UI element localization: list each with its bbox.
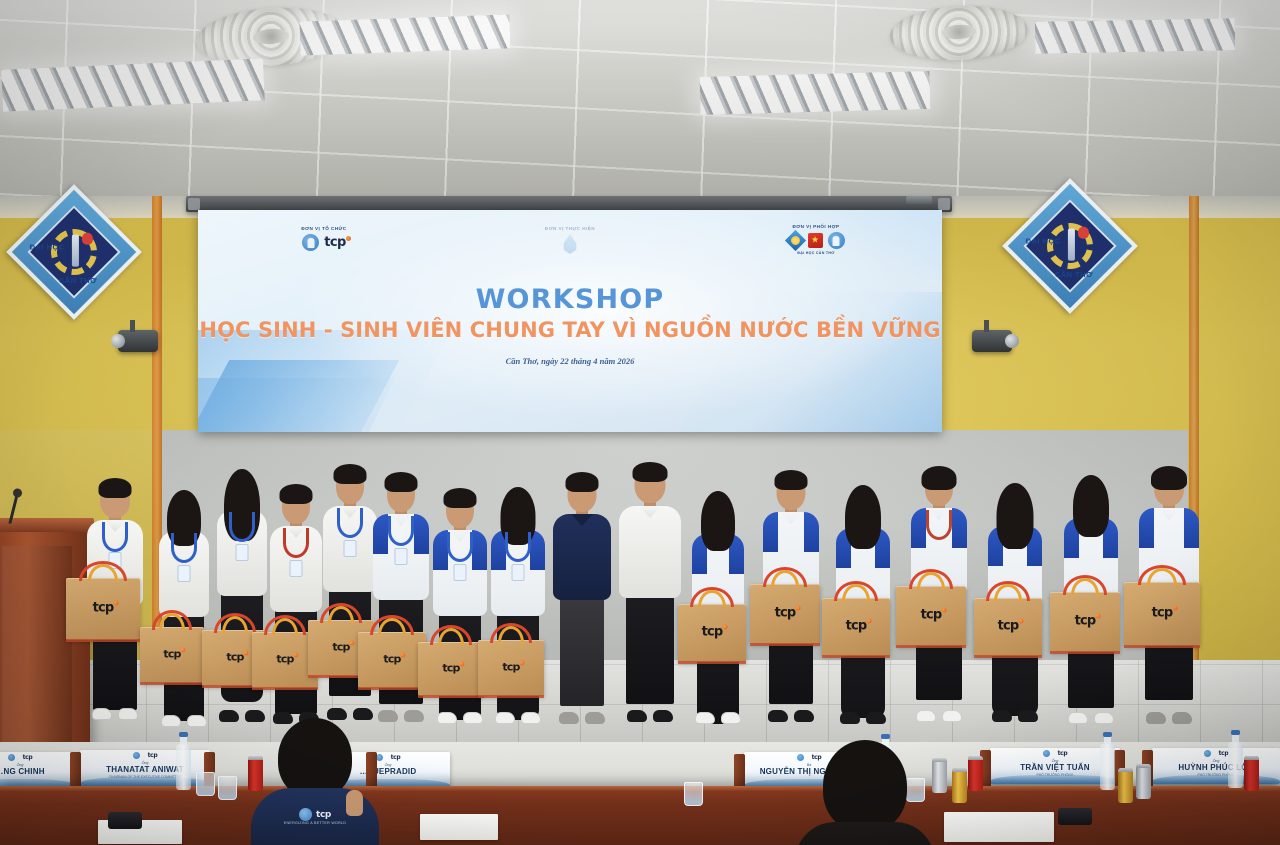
hand-circle-logo-icon bbox=[1043, 750, 1050, 757]
shoes bbox=[437, 712, 483, 724]
ceiling bbox=[0, 0, 1280, 210]
placard-wave bbox=[1152, 775, 1280, 784]
torch-icon bbox=[72, 235, 79, 267]
placard-name: …NG CHINH bbox=[0, 767, 76, 776]
hair bbox=[334, 464, 367, 484]
name-placard: tcp Ông HUỲNH PHÚC LỘC PHÓ TRƯỞNG PHÒNG bbox=[1152, 748, 1280, 784]
podium bbox=[0, 528, 90, 758]
name-placard: tcp Ông …NG CHINH bbox=[0, 752, 76, 788]
person-standing: tcp bbox=[368, 468, 434, 760]
logo-caption: ĐƠN VỊ PHỐI HỢP bbox=[746, 224, 886, 229]
tcp-logo: tcp bbox=[23, 754, 33, 761]
hand-circle-logo-icon bbox=[302, 234, 319, 251]
hair bbox=[775, 470, 808, 490]
legs bbox=[626, 594, 674, 704]
person-standing: tcp bbox=[906, 464, 972, 760]
mobile-phone bbox=[1058, 808, 1092, 825]
tcp-logo: tcp bbox=[324, 236, 345, 249]
person-standing: tcp bbox=[428, 472, 492, 760]
emblem-text-right: CẦN THƠ bbox=[1055, 270, 1093, 279]
gift-bag: tcp bbox=[1050, 592, 1120, 652]
tcp-bag-logo: tcp bbox=[226, 651, 243, 662]
shoes bbox=[695, 712, 741, 724]
logo-row: tcp bbox=[264, 234, 384, 251]
photo-scene: ĐẠI HỌC CẦN THƠ ĐẠI HỌC CẦN THƠ ĐƠN VỊ T… bbox=[0, 0, 1280, 845]
partner-diamond-logo-icon bbox=[784, 230, 805, 251]
torch-icon bbox=[1068, 229, 1075, 261]
flame-icon bbox=[82, 232, 93, 244]
person-standing: tcp bbox=[830, 472, 896, 760]
id-badge bbox=[512, 564, 525, 581]
energy-drink-can bbox=[952, 768, 967, 803]
tcp-bag-logo: tcp bbox=[332, 641, 349, 652]
person-staff-navy bbox=[548, 468, 616, 760]
head bbox=[823, 740, 907, 832]
screen-date-line: Cần Thơ, ngày 22 tháng 4 năm 2026 bbox=[198, 356, 942, 366]
shoes bbox=[916, 710, 962, 722]
projector-mount bbox=[906, 196, 932, 204]
tcp-bag-logo: tcp bbox=[502, 661, 519, 672]
hair bbox=[845, 485, 881, 549]
lanyard bbox=[926, 510, 952, 540]
logo-caption: ĐƠN VỊ THỰC HIỆN bbox=[500, 226, 640, 231]
document-paper bbox=[944, 812, 1054, 842]
id-badge bbox=[395, 548, 408, 565]
id-badge bbox=[454, 564, 467, 581]
id-badge bbox=[344, 540, 357, 557]
gift-bag: tcp bbox=[750, 584, 820, 644]
hand-circle-logo-icon bbox=[1204, 750, 1211, 757]
hair bbox=[922, 466, 957, 490]
hair bbox=[1073, 475, 1109, 537]
id-badge bbox=[236, 544, 249, 561]
lanyard bbox=[283, 528, 309, 558]
podium-panel bbox=[2, 546, 72, 748]
energy-drink-can bbox=[1118, 768, 1133, 803]
gift-bag: tcp bbox=[678, 604, 746, 662]
hand-circle-logo-icon bbox=[828, 232, 845, 249]
tcp-bag-logo: tcp bbox=[846, 619, 867, 632]
screen-decoration bbox=[198, 378, 394, 432]
placard-name: HUỲNH PHÚC LỘC bbox=[1152, 763, 1280, 772]
tcp-bag-logo: tcp bbox=[998, 619, 1019, 632]
gift-bag: tcp bbox=[1124, 582, 1200, 646]
hair bbox=[633, 462, 668, 482]
person-seated-foreground: tcp ENERGIZING A BETTER WORLD bbox=[240, 718, 390, 845]
gift-bag: tcp bbox=[66, 578, 140, 640]
person-standing: tcp bbox=[1058, 468, 1124, 760]
gift-bag: tcp bbox=[896, 586, 966, 646]
person-standing: tcp bbox=[758, 466, 824, 760]
tcp-dot-icon bbox=[346, 236, 351, 241]
tcp-logo: tcp bbox=[1058, 750, 1068, 757]
hair bbox=[444, 488, 477, 508]
projection-screen: ĐƠN VỊ TỔ CHỨC tcp ĐƠN VỊ THỰC HIỆN ĐƠN … bbox=[198, 210, 942, 432]
screen-logo-group-organiser: ĐƠN VỊ TỔ CHỨC tcp bbox=[264, 226, 384, 251]
collar bbox=[780, 512, 802, 524]
tcp-logo: tcp bbox=[148, 752, 158, 759]
torso-polo bbox=[553, 514, 611, 600]
person-standing: tcp bbox=[1134, 464, 1204, 760]
tcp-logo-subtext: ENERGIZING A BETTER WORLD bbox=[284, 821, 346, 825]
hair bbox=[280, 484, 313, 504]
legs bbox=[560, 596, 604, 706]
shoes bbox=[840, 712, 886, 724]
document-paper bbox=[420, 814, 498, 840]
tcp-bag-logo: tcp bbox=[1075, 614, 1096, 627]
lanyard bbox=[447, 532, 473, 562]
id-badge bbox=[290, 560, 303, 577]
collar bbox=[1158, 508, 1180, 520]
person-staff-white bbox=[614, 462, 686, 760]
raised-hand bbox=[346, 790, 363, 816]
wall-speaker-camera-left bbox=[118, 330, 158, 352]
shoes bbox=[495, 712, 541, 724]
placard-logos: tcp bbox=[0, 754, 76, 761]
collar bbox=[571, 514, 593, 526]
person-standing: tcp bbox=[686, 474, 750, 760]
tcp-shirt-logo: tcp ENERGIZING A BETTER WORLD bbox=[299, 808, 331, 821]
tcp-bag-logo: tcp bbox=[93, 601, 114, 614]
hair bbox=[701, 491, 735, 551]
screen-title: WORKSHOP bbox=[198, 284, 942, 315]
lanyard bbox=[229, 512, 255, 542]
tcp-bag-logo: tcp bbox=[163, 648, 180, 659]
energy-drink-can bbox=[968, 756, 983, 791]
gift-bag: tcp bbox=[974, 598, 1042, 656]
torso-shirt bbox=[619, 506, 681, 598]
tcp-bag-logo: tcp bbox=[702, 625, 723, 638]
youth-union-flag-icon bbox=[808, 233, 823, 248]
shoes bbox=[161, 715, 207, 727]
gift-bag: tcp bbox=[478, 640, 544, 696]
hair bbox=[997, 483, 1034, 549]
gift-bag: tcp bbox=[358, 632, 426, 688]
hair bbox=[385, 472, 418, 492]
tcp-bag-logo: tcp bbox=[383, 653, 400, 664]
emblem-text-left: ĐẠI HỌC bbox=[30, 243, 65, 252]
screen-subtitle: HỌC SINH - SINH VIÊN CHUNG TAY VÌ NGUỒN … bbox=[198, 318, 942, 342]
person-standing: tcp bbox=[80, 470, 150, 760]
torso bbox=[795, 822, 935, 845]
lanyard bbox=[102, 522, 128, 552]
hair bbox=[566, 472, 599, 492]
shoes bbox=[992, 710, 1038, 722]
screen-logo-group-partners: ĐƠN VỊ PHỐI HỢP ĐẠI HỌC CẦN THƠ bbox=[746, 224, 886, 255]
person-seated-foreground bbox=[790, 740, 940, 845]
water-bottle bbox=[176, 744, 191, 790]
shoes bbox=[1068, 712, 1114, 724]
shoes bbox=[627, 710, 673, 722]
lanyard bbox=[171, 533, 197, 563]
hand-circle-logo-icon bbox=[299, 808, 312, 821]
flame-icon bbox=[1078, 226, 1089, 238]
gift-bag: tcp bbox=[140, 627, 204, 683]
logo-row bbox=[746, 232, 886, 249]
hair bbox=[99, 478, 132, 498]
tcp-bag-logo: tcp bbox=[1152, 606, 1173, 619]
wall-speaker-camera-right bbox=[972, 330, 1012, 352]
id-badge bbox=[178, 565, 191, 582]
placard-logos: tcp bbox=[1152, 750, 1280, 757]
person-standing: tcp bbox=[152, 475, 216, 760]
person-standing: tcp bbox=[486, 474, 550, 760]
lanyard bbox=[388, 516, 414, 546]
emblem-text-right: CẦN THƠ bbox=[59, 276, 97, 285]
shoes bbox=[768, 710, 814, 722]
hair bbox=[1151, 466, 1187, 490]
lanyard bbox=[505, 532, 531, 562]
lanyard bbox=[337, 508, 363, 538]
water-drop-logo-icon bbox=[561, 234, 579, 254]
tcp-bag-logo: tcp bbox=[442, 662, 459, 673]
ceiling-shading bbox=[0, 0, 1280, 210]
shoes bbox=[92, 708, 138, 720]
mobile-phone bbox=[108, 812, 142, 829]
gift-bag: tcp bbox=[822, 598, 890, 656]
water-glass bbox=[218, 776, 237, 800]
logo-subcaption: ĐẠI HỌC CẦN THƠ bbox=[746, 251, 886, 255]
hand-circle-logo-icon bbox=[133, 752, 140, 759]
tcp-logo: tcp bbox=[391, 754, 401, 761]
energy-drink-can bbox=[1244, 756, 1259, 791]
tcp-bag-logo: tcp bbox=[276, 653, 293, 664]
shoes bbox=[1146, 712, 1192, 724]
energy-drink-can bbox=[1136, 764, 1151, 799]
emblem-text-left: ĐẠI HỌC bbox=[1026, 237, 1061, 246]
tcp-bag-logo: tcp bbox=[775, 606, 796, 619]
person-standing: tcp bbox=[982, 470, 1048, 760]
screen-logo-group-implementer: ĐƠN VỊ THỰC HIỆN bbox=[500, 226, 640, 254]
gift-bag: tcp bbox=[418, 642, 484, 696]
shoes bbox=[559, 712, 605, 724]
hand-circle-logo-icon bbox=[8, 754, 15, 761]
water-glass bbox=[684, 782, 703, 806]
logo-caption: ĐƠN VỊ TỔ CHỨC bbox=[264, 226, 384, 231]
water-bottle bbox=[1100, 744, 1115, 790]
tcp-logo: tcp bbox=[1219, 750, 1229, 757]
tcp-bag-logo: tcp bbox=[921, 608, 942, 621]
collar bbox=[639, 506, 661, 518]
tcp-logo-text: tcp bbox=[316, 810, 331, 820]
water-bottle bbox=[1228, 742, 1243, 788]
head bbox=[278, 718, 352, 798]
water-glass bbox=[196, 772, 215, 796]
